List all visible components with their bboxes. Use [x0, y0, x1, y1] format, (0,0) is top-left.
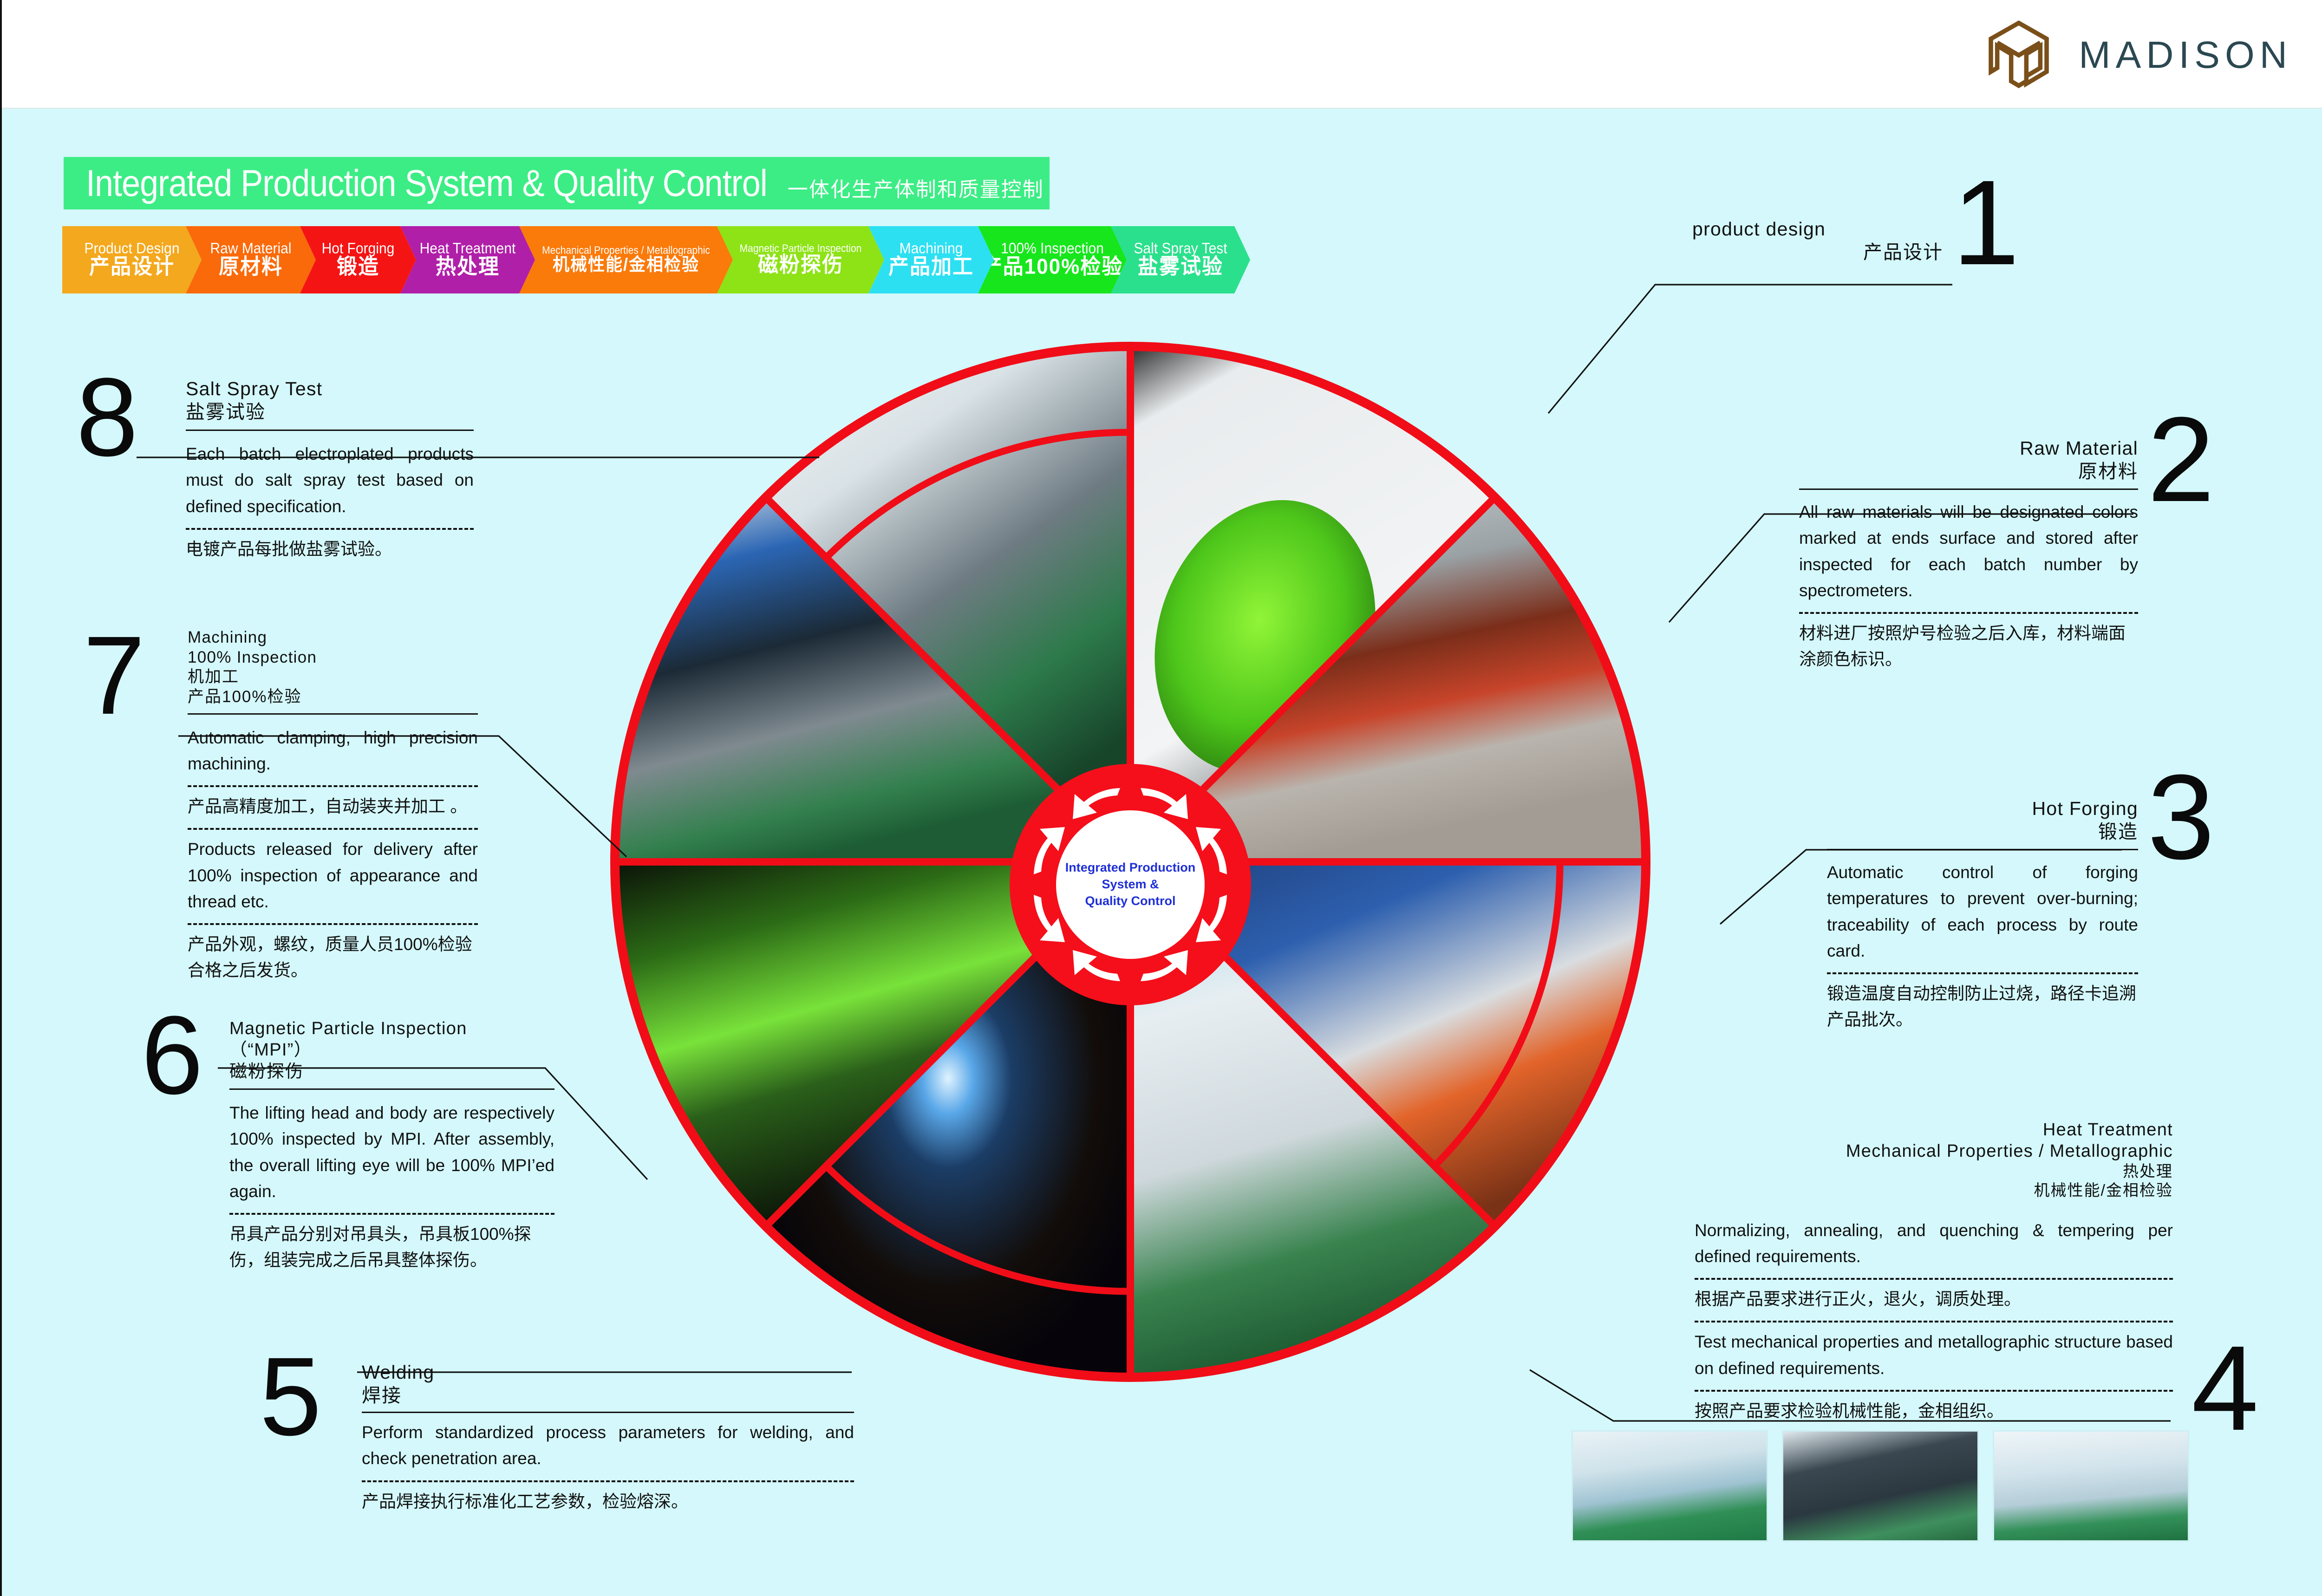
- step-8-title-en: Salt Spray Test: [186, 377, 474, 400]
- process-flow-bar: Product Design产品设计Raw Material原材料Hot For…: [62, 226, 1234, 293]
- step-5-title-en: Welding: [362, 1361, 854, 1384]
- lab-photo-strip: [1572, 1430, 2189, 1542]
- step-7-rule: [188, 713, 478, 715]
- process-chevron-6[interactable]: Magnetic Particle Inspection磁粉探伤: [717, 226, 884, 293]
- step-number-2: 2: [2147, 409, 2215, 511]
- process-chevron-2-label-en: Raw Material: [210, 241, 291, 257]
- step-block-8: Salt Spray Test 盐雾试验 Each batch electrop…: [186, 377, 474, 562]
- lab-photo-1: [1572, 1430, 1768, 1542]
- step-3-title-en: Hot Forging: [1827, 797, 2138, 820]
- process-chevron-8-label-cn: 产品100%检验: [982, 255, 1123, 279]
- step-4-title-cn-2: 机械性能/金相检验: [1695, 1181, 2173, 1200]
- step-6-title-en-1: Magnetic Particle Inspection: [229, 1018, 554, 1039]
- step-block-1: product design 产品设计: [1692, 217, 1943, 264]
- step-block-4: Heat Treatment Mechanical Properties / M…: [1695, 1119, 2173, 1424]
- step-7-heading: Machining 100% Inspection 机加工 产品100%检验: [188, 628, 478, 707]
- infographic-page: MADISON Integrated Production System & Q…: [0, 0, 2322, 1596]
- step-6-title-cn: 磁粉探伤: [229, 1061, 554, 1082]
- step-number-7: 7: [83, 628, 145, 723]
- process-chevron-4-label-cn: 热处理: [436, 255, 500, 279]
- step-8-rule: [186, 430, 474, 431]
- step-2-title-cn: 原材料: [1799, 460, 2138, 483]
- step-7-text-en-2: Products released for delivery after 100…: [188, 836, 478, 915]
- step-8-title-cn: 盐雾试验: [186, 400, 474, 423]
- step-2-title-en: Raw Material: [1799, 436, 2138, 460]
- step-1-heading: product design 产品设计: [1692, 217, 1943, 264]
- step-3-heading: Hot Forging 锻造: [1827, 797, 2138, 843]
- step-block-7: Machining 100% Inspection 机加工 产品100%检验 A…: [188, 628, 478, 984]
- step-block-6: Magnetic Particle Inspection （“MPI”） 磁粉探…: [229, 1018, 554, 1273]
- step-1-title-en: product design: [1692, 217, 1943, 241]
- step-4-title-cn-1: 热处理: [1695, 1162, 2173, 1181]
- step-7-dash-1: [188, 785, 478, 787]
- process-chevron-8-label-en: 100% Inspection: [1001, 241, 1104, 257]
- step-6-text-en: The lifting head and body are respective…: [229, 1100, 554, 1205]
- step-block-2: Raw Material 原材料 All raw materials will …: [1799, 436, 2138, 672]
- process-chevron-4-label-en: Heat Treatment: [420, 241, 516, 257]
- step-7-title-en-2: 100% Inspection: [188, 648, 478, 668]
- step-6-text-cn: 吊具产品分别对吊具头，吊具板100%探伤，组装完成之后吊具整体探伤。: [229, 1221, 554, 1273]
- process-chevron-9[interactable]: Salt Spray Test盐雾试验: [1111, 226, 1250, 293]
- step-8-heading: Salt Spray Test 盐雾试验: [186, 377, 474, 423]
- process-chevron-5[interactable]: Mechanical Properties / Metallographic机械…: [519, 226, 733, 293]
- step-number-1: 1: [1952, 172, 2020, 274]
- step-4-heading: Heat Treatment Mechanical Properties / M…: [1695, 1119, 2173, 1201]
- step-2-text-en: All raw materials will be designated col…: [1799, 499, 2138, 604]
- step-4-dash-3: [1695, 1390, 2173, 1392]
- step-2-dash-1: [1799, 612, 2138, 614]
- step-4-text-cn-1: 根据产品要求进行正火，退火，调质处理。: [1695, 1286, 2173, 1312]
- process-chevron-1[interactable]: Product Design产品设计: [62, 226, 202, 293]
- process-chevron-9-label-en: Salt Spray Test: [1134, 241, 1227, 257]
- step-3-title-cn: 锻造: [1827, 820, 2138, 843]
- step-block-5: Welding 焊接 Perform standardized process …: [362, 1361, 854, 1515]
- step-7-dash-3: [188, 923, 478, 925]
- step-4-dash-1: [1695, 1278, 2173, 1280]
- step-2-heading: Raw Material 原材料: [1799, 436, 2138, 483]
- process-chevron-9-label-cn: 盐雾试验: [1138, 255, 1223, 279]
- step-8-dash-1: [186, 528, 474, 530]
- step-7-text-cn-2: 产品外观，螺纹，质量人员100%检验合格之后发货。: [188, 932, 478, 984]
- process-chevron-2[interactable]: Raw Material原材料: [186, 226, 316, 293]
- step-4-title-en-1: Heat Treatment: [1695, 1119, 2173, 1140]
- step-number-6: 6: [141, 1008, 203, 1102]
- step-3-text-cn: 锻造温度自动控制防止过烧，路径卡追溯产品批次。: [1827, 981, 2138, 1033]
- lab-photo-3: [1993, 1430, 2189, 1542]
- step-7-dash-2: [188, 828, 478, 830]
- step-5-text-cn: 产品焊接执行标准化工艺参数，检验熔深。: [362, 1489, 854, 1515]
- process-chevron-3-label-en: Hot Forging: [322, 241, 395, 257]
- lab-photo-2: [1782, 1430, 1978, 1542]
- process-chevron-5-label-cn: 机械性能/金相检验: [553, 255, 699, 274]
- process-chevron-1-label-cn: 产品设计: [89, 255, 175, 279]
- step-7-title-en-1: Machining: [188, 628, 478, 648]
- process-chevron-6-label-cn: 磁粉探伤: [758, 254, 843, 277]
- step-1-title-cn: 产品设计: [1692, 241, 1943, 264]
- step-5-heading: Welding 焊接: [362, 1361, 854, 1407]
- step-7-text-en-1: Automatic clamping, high precision machi…: [188, 725, 478, 777]
- process-chevron-2-label-cn: 原材料: [219, 255, 283, 279]
- step-3-dash-1: [1827, 972, 2138, 974]
- step-3-text-en: Automatic control of forging temperature…: [1827, 860, 2138, 964]
- process-chevron-7-label-cn: 产品加工: [888, 255, 974, 279]
- step-4-text-en-1: Normalizing, annealing, and quenching & …: [1695, 1218, 2173, 1270]
- step-3-rule: [1827, 849, 2138, 850]
- step-4-text-en-2: Test mechanical properties and metallogr…: [1695, 1329, 2173, 1381]
- process-chevron-4[interactable]: Heat Treatment热处理: [400, 226, 535, 293]
- step-4-title-en-2: Mechanical Properties / Metallographic: [1695, 1140, 2173, 1162]
- step-4-dash-2: [1695, 1321, 2173, 1322]
- step-number-5: 5: [260, 1349, 321, 1444]
- process-chevron-7[interactable]: Machining产品加工: [868, 226, 994, 293]
- step-7-title-cn-2: 产品100%检验: [188, 687, 478, 707]
- step-5-dash-1: [362, 1480, 854, 1482]
- step-5-rule: [362, 1412, 854, 1413]
- step-6-rule: [229, 1088, 554, 1090]
- step-2-rule: [1799, 489, 2138, 490]
- step-7-title-cn-1: 机加工: [188, 667, 478, 687]
- step-block-3: Hot Forging 锻造 Automatic control of forg…: [1827, 797, 2138, 1033]
- step-6-title-en-2: （“MPI”）: [229, 1039, 554, 1061]
- process-chevron-7-label-en: Machining: [900, 241, 963, 257]
- step-5-title-cn: 焊接: [362, 1384, 854, 1407]
- step-4-text-cn-2: 按照产品要求检验机械性能，金相组织。: [1695, 1398, 2173, 1424]
- step-5-text-en: Perform standardized process parameters …: [362, 1420, 854, 1472]
- step-6-dash-1: [229, 1213, 554, 1215]
- step-number-4: 4: [2192, 1337, 2259, 1440]
- step-8-text-en: Each batch electroplated products must d…: [186, 441, 474, 520]
- step-number-8: 8: [76, 370, 138, 464]
- step-8-text-cn: 电镀产品每批做盐雾试验。: [186, 536, 474, 562]
- process-chevron-3-label-cn: 锻造: [337, 255, 379, 279]
- step-2-text-cn: 材料进厂按照炉号检验之后入库，材料端面涂颜色标识。: [1799, 620, 2138, 672]
- process-chevron-1-label-en: Product Design: [84, 241, 179, 257]
- step-7-text-cn-1: 产品高精度加工，自动装夹并加工 。: [188, 794, 478, 820]
- step-number-3: 3: [2147, 766, 2215, 869]
- process-chevron-3[interactable]: Hot Forging锻造: [300, 226, 416, 293]
- step-6-heading: Magnetic Particle Inspection （“MPI”） 磁粉探…: [229, 1018, 554, 1082]
- process-chevron-8[interactable]: 100% Inspection产品100%检验: [978, 226, 1127, 293]
- connector-step-1: [1548, 285, 1952, 413]
